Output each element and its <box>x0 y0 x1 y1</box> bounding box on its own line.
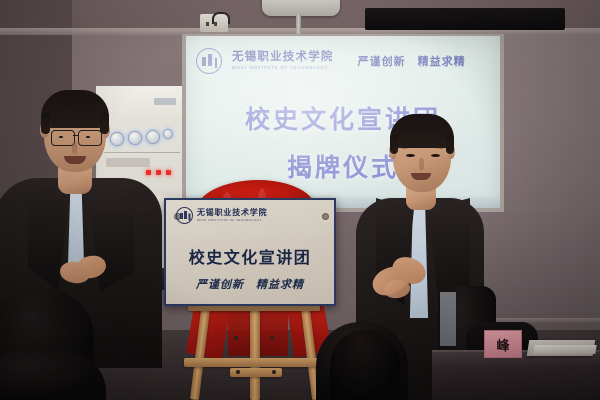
av-cabinet-logo <box>154 98 176 105</box>
left-presenter-sideburn-right <box>100 112 109 134</box>
left-presenter-sideburn-left <box>41 112 50 134</box>
stacked-documents-top <box>533 345 596 354</box>
plaque-school-header: 无锡职业技术学院 WUXI INSTITUTE OF TECHNOLOGY <box>176 207 267 224</box>
status-led-3 <box>166 170 171 175</box>
easel-rail-lower <box>184 358 326 367</box>
slide-motto: 严谨创新 精益求精 <box>358 53 466 69</box>
left-presenter-hair <box>41 90 109 128</box>
left-presenter-glasses-bridge <box>73 135 79 136</box>
easel-screw-3 <box>236 370 240 374</box>
easel-screw-1 <box>234 336 238 340</box>
plaque-hole-right <box>322 213 329 220</box>
easel-screw-2 <box>270 336 274 340</box>
right-presenter-sideburn-left <box>390 134 398 154</box>
university-emblem-icon <box>176 207 193 224</box>
av-slot <box>106 158 150 167</box>
ceiling-projector-icon <box>262 0 340 16</box>
plaque-school-name-cn: 无锡职业技术学院 <box>197 209 267 217</box>
plaque-motto: 严谨创新 精益求精 <box>164 276 336 292</box>
wall-speaker-panel <box>365 8 565 30</box>
status-led-2 <box>156 170 161 175</box>
right-presenter-hair <box>390 114 454 148</box>
standing-attendee-right-shirt <box>440 292 456 346</box>
left-presenter-eyeglasses-right <box>78 130 102 146</box>
left-presenter-nose <box>72 142 77 154</box>
av-knob-4[interactable] <box>163 129 173 139</box>
easel-leg-center <box>250 300 260 400</box>
university-emblem-icon <box>196 48 222 74</box>
desk <box>432 352 600 400</box>
av-cabinet-top <box>96 86 192 126</box>
left-presenter-eye-left <box>59 136 63 138</box>
left-presenter-eye-right <box>86 136 90 138</box>
plaque-school-name-en: WUXI INSTITUTE OF TECHNOLOGY <box>197 219 267 222</box>
foreground-attendee-center-hair <box>330 330 400 400</box>
easel-screw-4 <box>272 370 276 374</box>
av-knob-1[interactable] <box>110 132 124 146</box>
slide-header: 无锡职业技术学院 WUXI INSTITUTE OF TECHNOLOGY 严谨… <box>196 46 492 76</box>
name-card-text: 峰 <box>496 335 509 354</box>
right-presenter-sideburn-right <box>446 134 454 154</box>
status-led-1 <box>146 170 151 175</box>
name-card: 峰 <box>484 330 522 358</box>
photo-scene: 无锡职业技术学院 WUXI INSTITUTE OF TECHNOLOGY 严谨… <box>0 0 600 400</box>
right-presenter-eye-left <box>406 154 415 157</box>
right-presenter-eye-right <box>431 154 440 157</box>
av-knob-2[interactable] <box>128 131 142 145</box>
slide-school-name: 无锡职业技术学院 WUXI INSTITUTE OF TECHNOLOGY <box>232 52 334 70</box>
av-knob-3[interactable] <box>146 130 160 144</box>
right-presenter-nose <box>419 158 424 170</box>
foreground-attendee-left-shoulder <box>0 352 106 400</box>
outlet-cord <box>212 12 230 24</box>
plaque-title: 校史文化宣讲团 <box>164 244 336 268</box>
slide-school-name-cn: 无锡职业技术学院 <box>232 52 334 64</box>
slide-school-name-en: WUXI INSTITUTE OF TECHNOLOGY <box>232 66 334 70</box>
